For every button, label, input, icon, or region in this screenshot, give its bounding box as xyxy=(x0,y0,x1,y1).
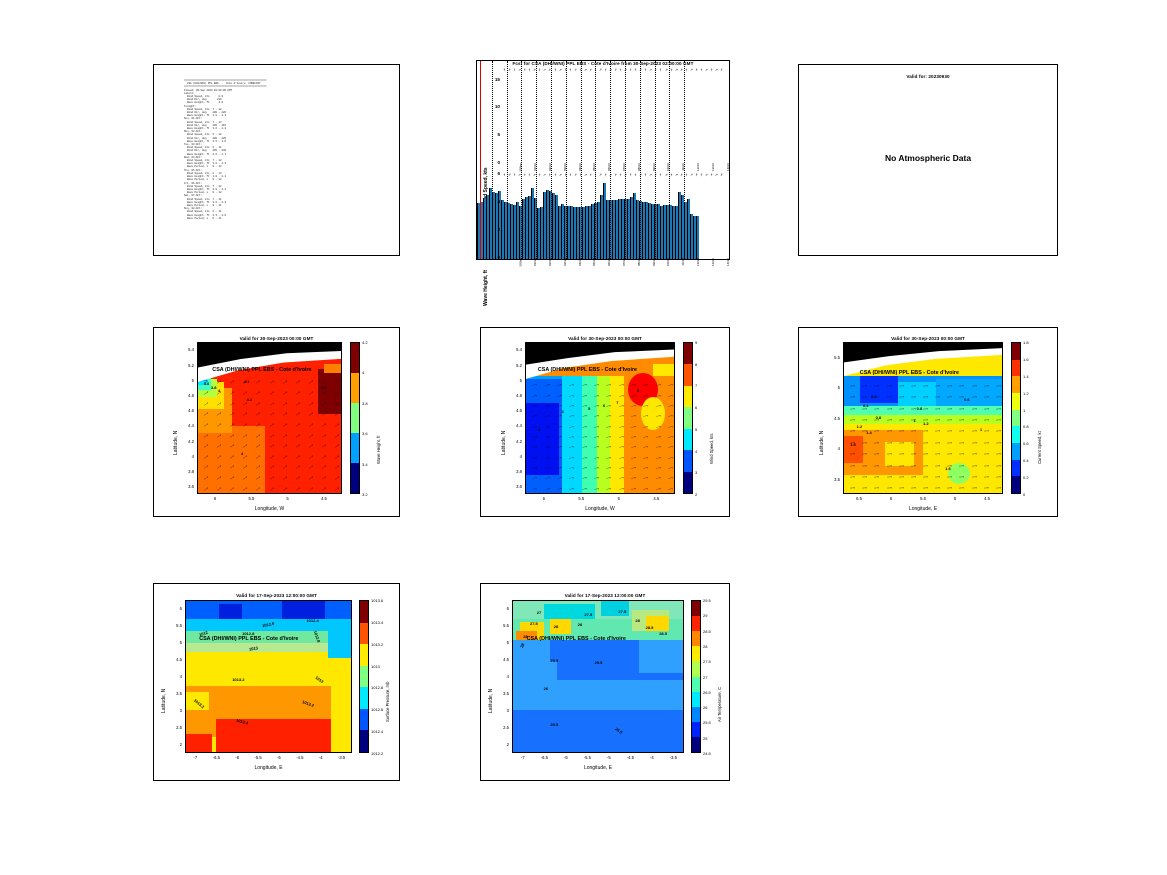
field-vector: ⟶ xyxy=(655,425,660,429)
y-tick-label: 5.4 xyxy=(175,347,194,352)
wind-direction-arrow: ↗ xyxy=(533,67,536,71)
y-axis-label: Latitude, N xyxy=(488,689,494,713)
field-vector: ⟶ xyxy=(899,476,904,480)
field-vector: ⟶ xyxy=(996,442,1001,446)
field-vector: ⟶ xyxy=(984,464,989,468)
field-vector: ⟶ xyxy=(618,405,623,409)
x-tick-label: 12Oct xyxy=(696,163,700,171)
direction-arrow-row: ↗↗↗↗↗↗↗↗↗↗↗↗↗↗↗↗↗↗↗↗↗↗↗↗↗↗↗↗↗↗↗↗↗↗↗↗↗↗↗↗… xyxy=(503,173,725,178)
colorbar-tick-label: 1012.6 xyxy=(371,707,383,712)
wind-direction-arrow: ↗ xyxy=(578,67,583,72)
air-temperature-map-title: Valid for 17-Sep-2023 12:00:00 GMT xyxy=(481,593,729,598)
field-vector: ⟶ xyxy=(923,464,928,468)
colorbar-segment xyxy=(351,343,359,373)
contour-band xyxy=(653,364,674,376)
direction-arrow-row: ↗↗↗↗↗↗↗↗↗↗↗↗↗↗↗↗↗↗↗↗↗↗↗↗↗↗↗↗↗↗↗↗↗↗↗↗↗↗↗↗… xyxy=(503,68,725,73)
wind-direction-arrow: ↗ xyxy=(599,172,602,176)
x-tick-label: 6.5 xyxy=(849,496,869,501)
field-vector: ⟶ xyxy=(996,385,1001,389)
wind-direction-arrow: ↗ xyxy=(573,67,577,72)
wind-direction-arrow: ↗ xyxy=(719,67,723,72)
colorbar-segment xyxy=(351,373,359,403)
field-vector: ⟶ xyxy=(972,396,977,400)
field-vector: ⟶ xyxy=(850,407,855,411)
field-vector: ⟶ xyxy=(321,476,327,482)
y-tick-label: 3.8 xyxy=(175,469,194,474)
field-vector: ⟶ xyxy=(959,487,964,491)
gridline xyxy=(551,61,552,259)
field-vector: ⟶ xyxy=(862,476,867,480)
field-vector: ⟶ xyxy=(295,476,301,482)
field-vector: ⟶ xyxy=(935,385,940,389)
y-tick-label: 5 xyxy=(487,132,500,137)
atmospheric-panel: Valid for: 20230930 No Atmospheric Data xyxy=(798,64,1058,256)
wind-direction-arrow: ↗ xyxy=(709,172,714,177)
wave-height-colorbar xyxy=(350,342,360,494)
wind-direction-arrow: ↗ xyxy=(694,172,698,177)
field-vector: ⟶ xyxy=(581,467,586,471)
colorbar-tick-label: 1 xyxy=(1023,408,1025,413)
field-vector: ⟶ xyxy=(984,396,989,400)
atmospheric-title: Valid for: 20230930 xyxy=(799,74,1057,79)
field-vector: ⟶ xyxy=(899,396,904,400)
y-tick-label: 4.5 xyxy=(163,657,182,662)
field-vector: ⟶ xyxy=(996,419,1001,423)
field-vector: ⟶ xyxy=(295,487,301,493)
field-vector: ⟶ xyxy=(269,401,275,407)
field-vector: ⟶ xyxy=(923,407,928,411)
field-vector: ⟶ xyxy=(256,391,262,397)
gridline xyxy=(521,61,522,259)
field-vector: ⟶ xyxy=(282,423,288,429)
field-vector: ⟶ xyxy=(243,401,249,407)
field-vector: ⟶ xyxy=(886,442,891,446)
field-vector: ⟶ xyxy=(581,456,586,460)
field-vector: ⟶ xyxy=(544,487,549,491)
colorbar-segment xyxy=(692,737,700,752)
field-vector: ⟶ xyxy=(334,455,340,461)
x-tick-label: -7 xyxy=(185,755,205,760)
field-vector: ⟶ xyxy=(655,405,660,409)
field-vector: ⟶ xyxy=(850,419,855,423)
wind-direction-arrow: ↗ xyxy=(715,67,718,71)
field-vector: ⟶ xyxy=(886,396,891,400)
colorbar-tick-label: 1.4 xyxy=(1023,374,1029,379)
y-tick-label: 2.5 xyxy=(163,725,182,730)
field-vector: ⟶ xyxy=(321,455,327,461)
wind-direction-arrow: ↗ xyxy=(508,67,512,72)
x-tick-label: -3.5 xyxy=(332,755,352,760)
field-vector: ⟶ xyxy=(269,380,275,386)
field-vector: ⟶ xyxy=(581,394,586,398)
field-vector: ⟶ xyxy=(655,456,660,460)
field-vector: ⟶ xyxy=(618,487,623,491)
field-vector: ⟶ xyxy=(947,487,952,491)
field-vector: ⟶ xyxy=(911,453,916,457)
field-vector: ⟶ xyxy=(282,433,288,439)
y-axis-label: Latitude, N xyxy=(501,430,507,454)
field-vector: ⟶ xyxy=(308,487,314,493)
field-vector: ⟶ xyxy=(557,394,562,398)
field-vector: ⟶ xyxy=(321,412,327,418)
colorbar-segment xyxy=(692,707,700,722)
field-vector: ⟶ xyxy=(874,476,879,480)
field-vector: ⟶ xyxy=(923,476,928,480)
colorbar-tick-label: 3.8 xyxy=(362,401,368,406)
wind-direction-arrow: ↗ xyxy=(715,172,718,176)
wind-direction-arrow: ↗ xyxy=(563,172,567,177)
y-tick-label: 5.4 xyxy=(503,347,522,352)
contour-label: 27.5 xyxy=(584,612,592,617)
x-tick-label: 02Oct xyxy=(548,258,552,266)
wind-speed-axes xyxy=(477,61,699,155)
field-vector: ⟶ xyxy=(334,412,340,418)
wind-direction-arrow: ↗ xyxy=(593,172,598,177)
field-vector: ⟶ xyxy=(935,476,940,480)
field-vector: ⟶ xyxy=(334,423,340,429)
colorbar-segment xyxy=(692,661,700,676)
field-vector: ⟶ xyxy=(308,433,314,439)
field-vector: ⟶ xyxy=(282,455,288,461)
field-vector: ⟶ xyxy=(959,407,964,411)
field-vector: ⟶ xyxy=(618,456,623,460)
bar xyxy=(696,216,699,259)
timeseries-title: Fcst for CSA (DHI/WNI) PPL EBS - Cote d'… xyxy=(477,61,729,66)
field-vector: ⟶ xyxy=(594,487,599,491)
field-vector: ⟶ xyxy=(269,433,275,439)
wind-direction-arrow: ↗ xyxy=(609,67,612,71)
field-vector: ⟶ xyxy=(996,464,1001,468)
colorbar-tick-label: 3.6 xyxy=(362,431,368,436)
wind-direction-arrow: ↗ xyxy=(568,67,573,72)
colorbar-title: Current Speed, kt xyxy=(1037,431,1042,464)
colorbar-tick-label: 1012.8 xyxy=(371,685,383,690)
x-tick-label: 5 xyxy=(609,496,629,501)
field-vector: ⟶ xyxy=(959,442,964,446)
x-axis-label: Longitude, E xyxy=(512,765,684,771)
contour-label: 25.5 xyxy=(595,660,603,665)
x-tick-label: -6.5 xyxy=(534,755,554,760)
field-vector: ⟶ xyxy=(308,476,314,482)
wind-direction-arrow: ↗ xyxy=(578,172,583,177)
field-vector: ⟶ xyxy=(655,467,660,471)
contour-label: 1012.4 xyxy=(306,618,318,623)
colorbar-tick-label: 25.5 xyxy=(703,720,711,725)
field-vector: ⟶ xyxy=(972,464,977,468)
x-tick-label: 4.5 xyxy=(314,496,334,501)
field-vector: ⟶ xyxy=(256,412,262,418)
colorbar-segment xyxy=(360,709,368,731)
field-vector: ⟶ xyxy=(295,455,301,461)
colorbar-segment xyxy=(1012,410,1020,427)
wind-direction-arrow: ↗ xyxy=(633,67,638,72)
field-vector: ⟶ xyxy=(643,405,648,409)
field-vector: ⟶ xyxy=(606,425,611,429)
field-vector: ⟶ xyxy=(959,476,964,480)
field-vector: ⟶ xyxy=(606,394,611,398)
field-vector: ⟶ xyxy=(947,385,952,389)
field-vector: ⟶ xyxy=(668,487,673,491)
wind-direction-arrow: ↗ xyxy=(614,67,618,72)
field-vector: ⟶ xyxy=(886,453,891,457)
wind-direction-arrow: ↗ xyxy=(553,67,558,72)
contour-label: 7 xyxy=(616,400,618,405)
field-vector: ⟶ xyxy=(308,455,314,461)
wind-direction-arrow: ↗ xyxy=(558,172,561,176)
y-tick-label: 5 xyxy=(163,640,182,645)
field-vector: ⟶ xyxy=(618,394,623,398)
field-vector: ⟶ xyxy=(972,407,977,411)
project-overlay-label: CSA (DHI/WNI) PPL EBS - Cote d'Ivoire xyxy=(212,367,311,373)
x-tick-label: -4.5 xyxy=(290,755,310,760)
y-tick-label: 4.4 xyxy=(503,423,522,428)
wind-direction-arrow: ↗ xyxy=(563,67,567,72)
field-vector: ⟶ xyxy=(308,412,314,418)
contour-label: 4.1 xyxy=(244,379,250,384)
field-vector: ⟶ xyxy=(269,455,275,461)
x-tick-label: 11Oct xyxy=(681,258,685,266)
field-vector: ⟶ xyxy=(631,405,636,409)
colorbar-segment xyxy=(684,472,692,494)
contour-label: 4.3 xyxy=(321,385,327,390)
colorbar-tick-label: 1013.2 xyxy=(371,642,383,647)
contour-label: 1013.2 xyxy=(232,677,244,682)
y-axis-label: Latitude, N xyxy=(161,689,167,713)
colorbar-tick-label: 0 xyxy=(1023,492,1025,497)
y-tick-label: 5 xyxy=(503,378,522,383)
wave-height-map-axes: ⟶⟶⟶⟶⟶⟶⟶⟶⟶⟶⟶⟶⟶⟶⟶⟶⟶⟶⟶⟶⟶⟶⟶⟶⟶⟶⟶⟶⟶⟶⟶⟶⟶⟶⟶⟶⟶⟶⟶⟶… xyxy=(197,342,342,494)
colorbar-tick-label: 3.4 xyxy=(362,462,368,467)
field-vector: ⟶ xyxy=(230,412,236,418)
wind-speed-map-axes: ⟶⟶⟶⟶⟶⟶⟶⟶⟶⟶⟶⟶⟶⟶⟶⟶⟶⟶⟶⟶⟶⟶⟶⟶⟶⟶⟶⟶⟶⟶⟶⟶⟶⟶⟶⟶⟶⟶⟶⟶… xyxy=(525,342,675,494)
contour-label: 3.8 xyxy=(211,385,217,390)
field-vector: ⟶ xyxy=(581,425,586,429)
colorbar-segment xyxy=(692,677,700,692)
wind-direction-arrow: ↗ xyxy=(599,67,602,71)
y-tick-label: 4 xyxy=(163,674,182,679)
field-vector: ⟶ xyxy=(935,419,940,423)
field-vector: ⟶ xyxy=(935,430,940,434)
contour-label: 0.4 xyxy=(863,403,869,408)
wind-direction-arrow: ↗ xyxy=(584,67,587,71)
colorbar-segment xyxy=(1012,360,1020,377)
wind-direction-arrow: ↗ xyxy=(573,172,577,177)
field-vector: ⟶ xyxy=(594,425,599,429)
colorbar-tick-label: 24.5 xyxy=(703,751,711,756)
x-axis-label: Longitude, W xyxy=(525,506,675,512)
y-axis-label: Latitude, N xyxy=(173,430,179,454)
gridline xyxy=(655,61,656,259)
field-vector: ⟶ xyxy=(886,487,891,491)
field-vector: ⟶ xyxy=(959,430,964,434)
wind-direction-arrow: ↗ xyxy=(518,172,521,176)
field-vector: ⟶ xyxy=(308,391,314,397)
colorbar-segment xyxy=(360,644,368,666)
y-tick-label: 6 xyxy=(487,171,500,176)
gridline xyxy=(507,61,508,259)
contour-label: 3 xyxy=(538,427,540,432)
field-vector: ⟶ xyxy=(269,476,275,482)
y-tick-label: 3.6 xyxy=(175,484,194,489)
colorbar-tick-label: 4 xyxy=(695,449,697,454)
field-vector: ⟶ xyxy=(935,453,940,457)
colorbar-segment xyxy=(692,646,700,661)
field-vector: ⟶ xyxy=(984,385,989,389)
field-vector: ⟶ xyxy=(947,396,952,400)
field-vector: ⟶ xyxy=(594,405,599,409)
field-vector: ⟶ xyxy=(850,453,855,457)
field-vector: ⟶ xyxy=(295,412,301,418)
x-tick-label: -5 xyxy=(269,755,289,760)
wind-direction-arrow: ↗ xyxy=(533,172,536,176)
wind-direction-arrow: ↗ xyxy=(502,172,507,177)
field-vector: ⟶ xyxy=(984,430,989,434)
no-atmospheric-data-message: No Atmospheric Data xyxy=(799,153,1057,163)
field-vector: ⟶ xyxy=(959,419,964,423)
air-temperature-map-axes: 2727.528282827.527.52828.528.52825.525.5… xyxy=(512,600,684,753)
x-tick-label: 5 xyxy=(278,496,298,501)
wind-direction-arrow: ↗ xyxy=(537,67,542,72)
field-vector: ⟶ xyxy=(243,391,249,397)
field-vector: ⟶ xyxy=(557,467,562,471)
wind-direction-arrow: ↗ xyxy=(614,172,618,177)
wind-direction-arrow: ↗ xyxy=(709,67,714,72)
colorbar-tick-label: 0.2 xyxy=(1023,475,1029,480)
field-vector: ⟶ xyxy=(886,407,891,411)
field-vector: ⟶ xyxy=(655,394,660,398)
y-tick-label: 0 xyxy=(487,160,500,165)
field-vector: ⟶ xyxy=(850,476,855,480)
y-tick-label: 15 xyxy=(487,77,500,82)
field-vector: ⟶ xyxy=(544,405,549,409)
x-tick-label: -3.5 xyxy=(663,755,683,760)
gridline xyxy=(581,61,582,259)
field-vector: ⟶ xyxy=(532,425,537,429)
project-overlay-label: CSA (DHI/WNI) PPL EBS - Cote d'Ivoire xyxy=(527,636,626,642)
x-tick-label: 06Oct xyxy=(607,258,611,266)
wind-direction-arrow: ↗ xyxy=(719,172,723,177)
field-vector: ⟶ xyxy=(295,444,301,450)
contour-label: 0.8 xyxy=(876,415,882,420)
x-tick-label: -6 xyxy=(227,755,247,760)
wind-direction-arrow: ↗ xyxy=(588,67,592,72)
gridline xyxy=(536,61,537,259)
field-vector: ⟶ xyxy=(935,407,940,411)
contour-label: 28 xyxy=(578,622,582,627)
field-vector: ⟶ xyxy=(911,430,916,434)
colorbar-tick-label: 27 xyxy=(703,675,707,680)
colorbar-tick-label: 26.5 xyxy=(703,690,711,695)
field-vector: ⟶ xyxy=(923,453,928,457)
colorbar-segment xyxy=(1012,443,1020,460)
field-vector: ⟶ xyxy=(899,430,904,434)
colorbar-title: Wave Height, ft xyxy=(376,435,381,463)
colorbar-segment xyxy=(360,687,368,709)
field-vector: ⟶ xyxy=(557,436,562,440)
field-vector: ⟶ xyxy=(899,407,904,411)
colorbar-tick-label: 3.2 xyxy=(362,492,368,497)
wind-direction-arrow: ↗ xyxy=(699,172,704,177)
field-vector: ⟶ xyxy=(569,394,574,398)
air-temperature-colorbar xyxy=(691,600,701,753)
field-vector: ⟶ xyxy=(569,436,574,440)
field-vector: ⟶ xyxy=(295,380,301,386)
field-vector: ⟶ xyxy=(886,419,891,423)
colorbar-tick-label: 28 xyxy=(703,644,707,649)
wind-direction-arrow: ↗ xyxy=(593,67,598,72)
field-vector: ⟶ xyxy=(643,436,648,440)
contour-label: 27 xyxy=(537,610,541,615)
field-vector: ⟶ xyxy=(308,423,314,429)
field-vector: ⟶ xyxy=(959,453,964,457)
field-vector: ⟶ xyxy=(321,423,327,429)
wind-direction-arrow: ↗ xyxy=(679,67,683,72)
field-vector: ⟶ xyxy=(947,442,952,446)
wind-direction-arrow: ↗ xyxy=(502,67,507,72)
field-vector: ⟶ xyxy=(886,385,891,389)
field-vector: ⟶ xyxy=(655,487,660,491)
field-vector: ⟶ xyxy=(334,433,340,439)
x-tick-label: 04Oct xyxy=(578,258,582,266)
colorbar-segment xyxy=(1012,426,1020,443)
wind-direction-arrow: ↗ xyxy=(624,172,627,176)
field-vector: ⟶ xyxy=(996,430,1001,434)
colorbar-title: Surface Pressure, mb xyxy=(385,682,390,723)
colorbar-segment xyxy=(684,343,692,365)
field-vector: ⟶ xyxy=(874,442,879,446)
field-vector: ⟶ xyxy=(334,444,340,450)
field-vector: ⟶ xyxy=(282,380,288,386)
report-line: Wave Period, s 8 - 11 xyxy=(184,217,389,220)
y-tick-label: 4.6 xyxy=(175,408,194,413)
colorbar-segment xyxy=(692,631,700,646)
field-vector: ⟶ xyxy=(899,464,904,468)
field-vector: ⟶ xyxy=(972,442,977,446)
x-tick-label: 13Oct xyxy=(711,163,715,171)
y-tick-label: 5 xyxy=(175,378,194,383)
field-vector: ⟶ xyxy=(532,487,537,491)
colorbar-segment xyxy=(684,450,692,472)
contour-label: 25.5 xyxy=(550,722,558,727)
y-tick-label: 4.5 xyxy=(490,657,509,662)
field-vector: ⟶ xyxy=(308,380,314,386)
colorbar-segment xyxy=(360,666,368,688)
wind-direction-arrow: ↗ xyxy=(684,172,689,177)
field-vector: ⟶ xyxy=(308,401,314,407)
project-overlay-label: CSA (DHI/WNI) PPL EBS - Cote d'Ivoire xyxy=(538,367,637,373)
y-tick-label: 3.6 xyxy=(503,484,522,489)
field-vector: ⟶ xyxy=(334,476,340,482)
field-vector: ⟶ xyxy=(935,487,940,491)
y-tick-label: 6 xyxy=(490,606,509,611)
field-vector: ⟶ xyxy=(972,487,977,491)
field-vector: ⟶ xyxy=(862,385,867,389)
y-axis-label: Latitude, N xyxy=(819,430,825,454)
colorbar-tick-label: 2 xyxy=(695,492,697,497)
field-vector: ⟶ xyxy=(850,385,855,389)
colorbar-segment xyxy=(1012,393,1020,410)
y-tick-label: 4.4 xyxy=(175,423,194,428)
colorbar-segment xyxy=(692,692,700,707)
contour-label: 28 xyxy=(635,618,639,623)
forecast-report-panel: ========================================… xyxy=(153,64,400,256)
field-vector: ⟶ xyxy=(569,456,574,460)
colorbar-tick-label: 0.4 xyxy=(1023,458,1029,463)
y-tick-label: 4.5 xyxy=(821,416,840,421)
field-vector: ⟶ xyxy=(984,419,989,423)
y-tick-label: 4.6 xyxy=(503,408,522,413)
x-axis-label: Longitude, E xyxy=(843,506,1003,512)
